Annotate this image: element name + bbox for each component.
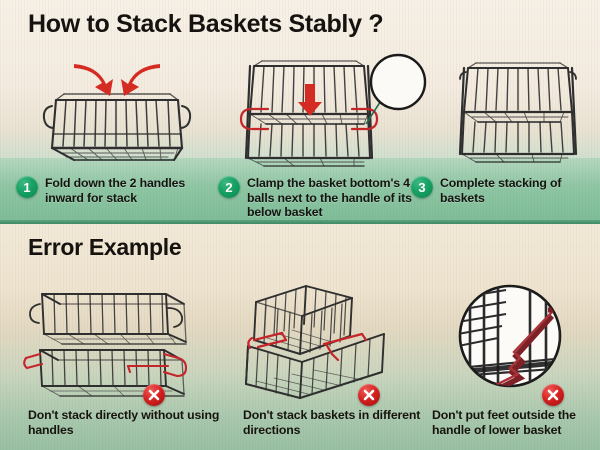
error-1-x-badge — [143, 384, 165, 406]
step-3-number-badge: 3 — [411, 176, 433, 198]
step-2: 2 Clamp the basket bottom's 4 balls next… — [218, 176, 418, 220]
magnifier-circle — [371, 55, 425, 109]
step-3-illustration — [450, 54, 590, 166]
error-section-title: Error Example — [28, 234, 181, 261]
error-2-illustration — [234, 278, 420, 400]
infographic-poster: How to Stack Baskets Stably ? — [0, 0, 600, 450]
step-1: 1 Fold down the 2 handles inward for sta… — [16, 176, 221, 205]
step-3-text: Complete stacking of baskets — [440, 176, 596, 205]
step-1-text: Fold down the 2 handles inward for stack — [45, 176, 221, 205]
page-title: How to Stack Baskets Stably ? — [28, 10, 383, 39]
error-1-caption: Don't stack directly without using handl… — [28, 408, 228, 438]
step-2-text: Clamp the basket bottom's 4 balls next t… — [247, 176, 418, 220]
error-3-caption: Don't put feet outside the handle of low… — [432, 408, 600, 438]
error-2-caption: Don't stack baskets in different directi… — [243, 408, 433, 438]
x-icon — [363, 389, 375, 401]
error-1-illustration — [18, 278, 218, 398]
step-1-number-badge: 1 — [16, 176, 38, 198]
error-3-x-badge — [542, 384, 564, 406]
step-3: 3 Complete stacking of baskets — [411, 176, 596, 205]
x-icon — [547, 389, 559, 401]
step-2-illustration — [232, 52, 428, 168]
step-1-illustration — [22, 56, 212, 164]
error-2-x-badge — [358, 384, 380, 406]
x-icon — [148, 389, 160, 401]
error-3-illustration — [456, 280, 572, 398]
step-2-number-badge: 2 — [218, 176, 240, 198]
